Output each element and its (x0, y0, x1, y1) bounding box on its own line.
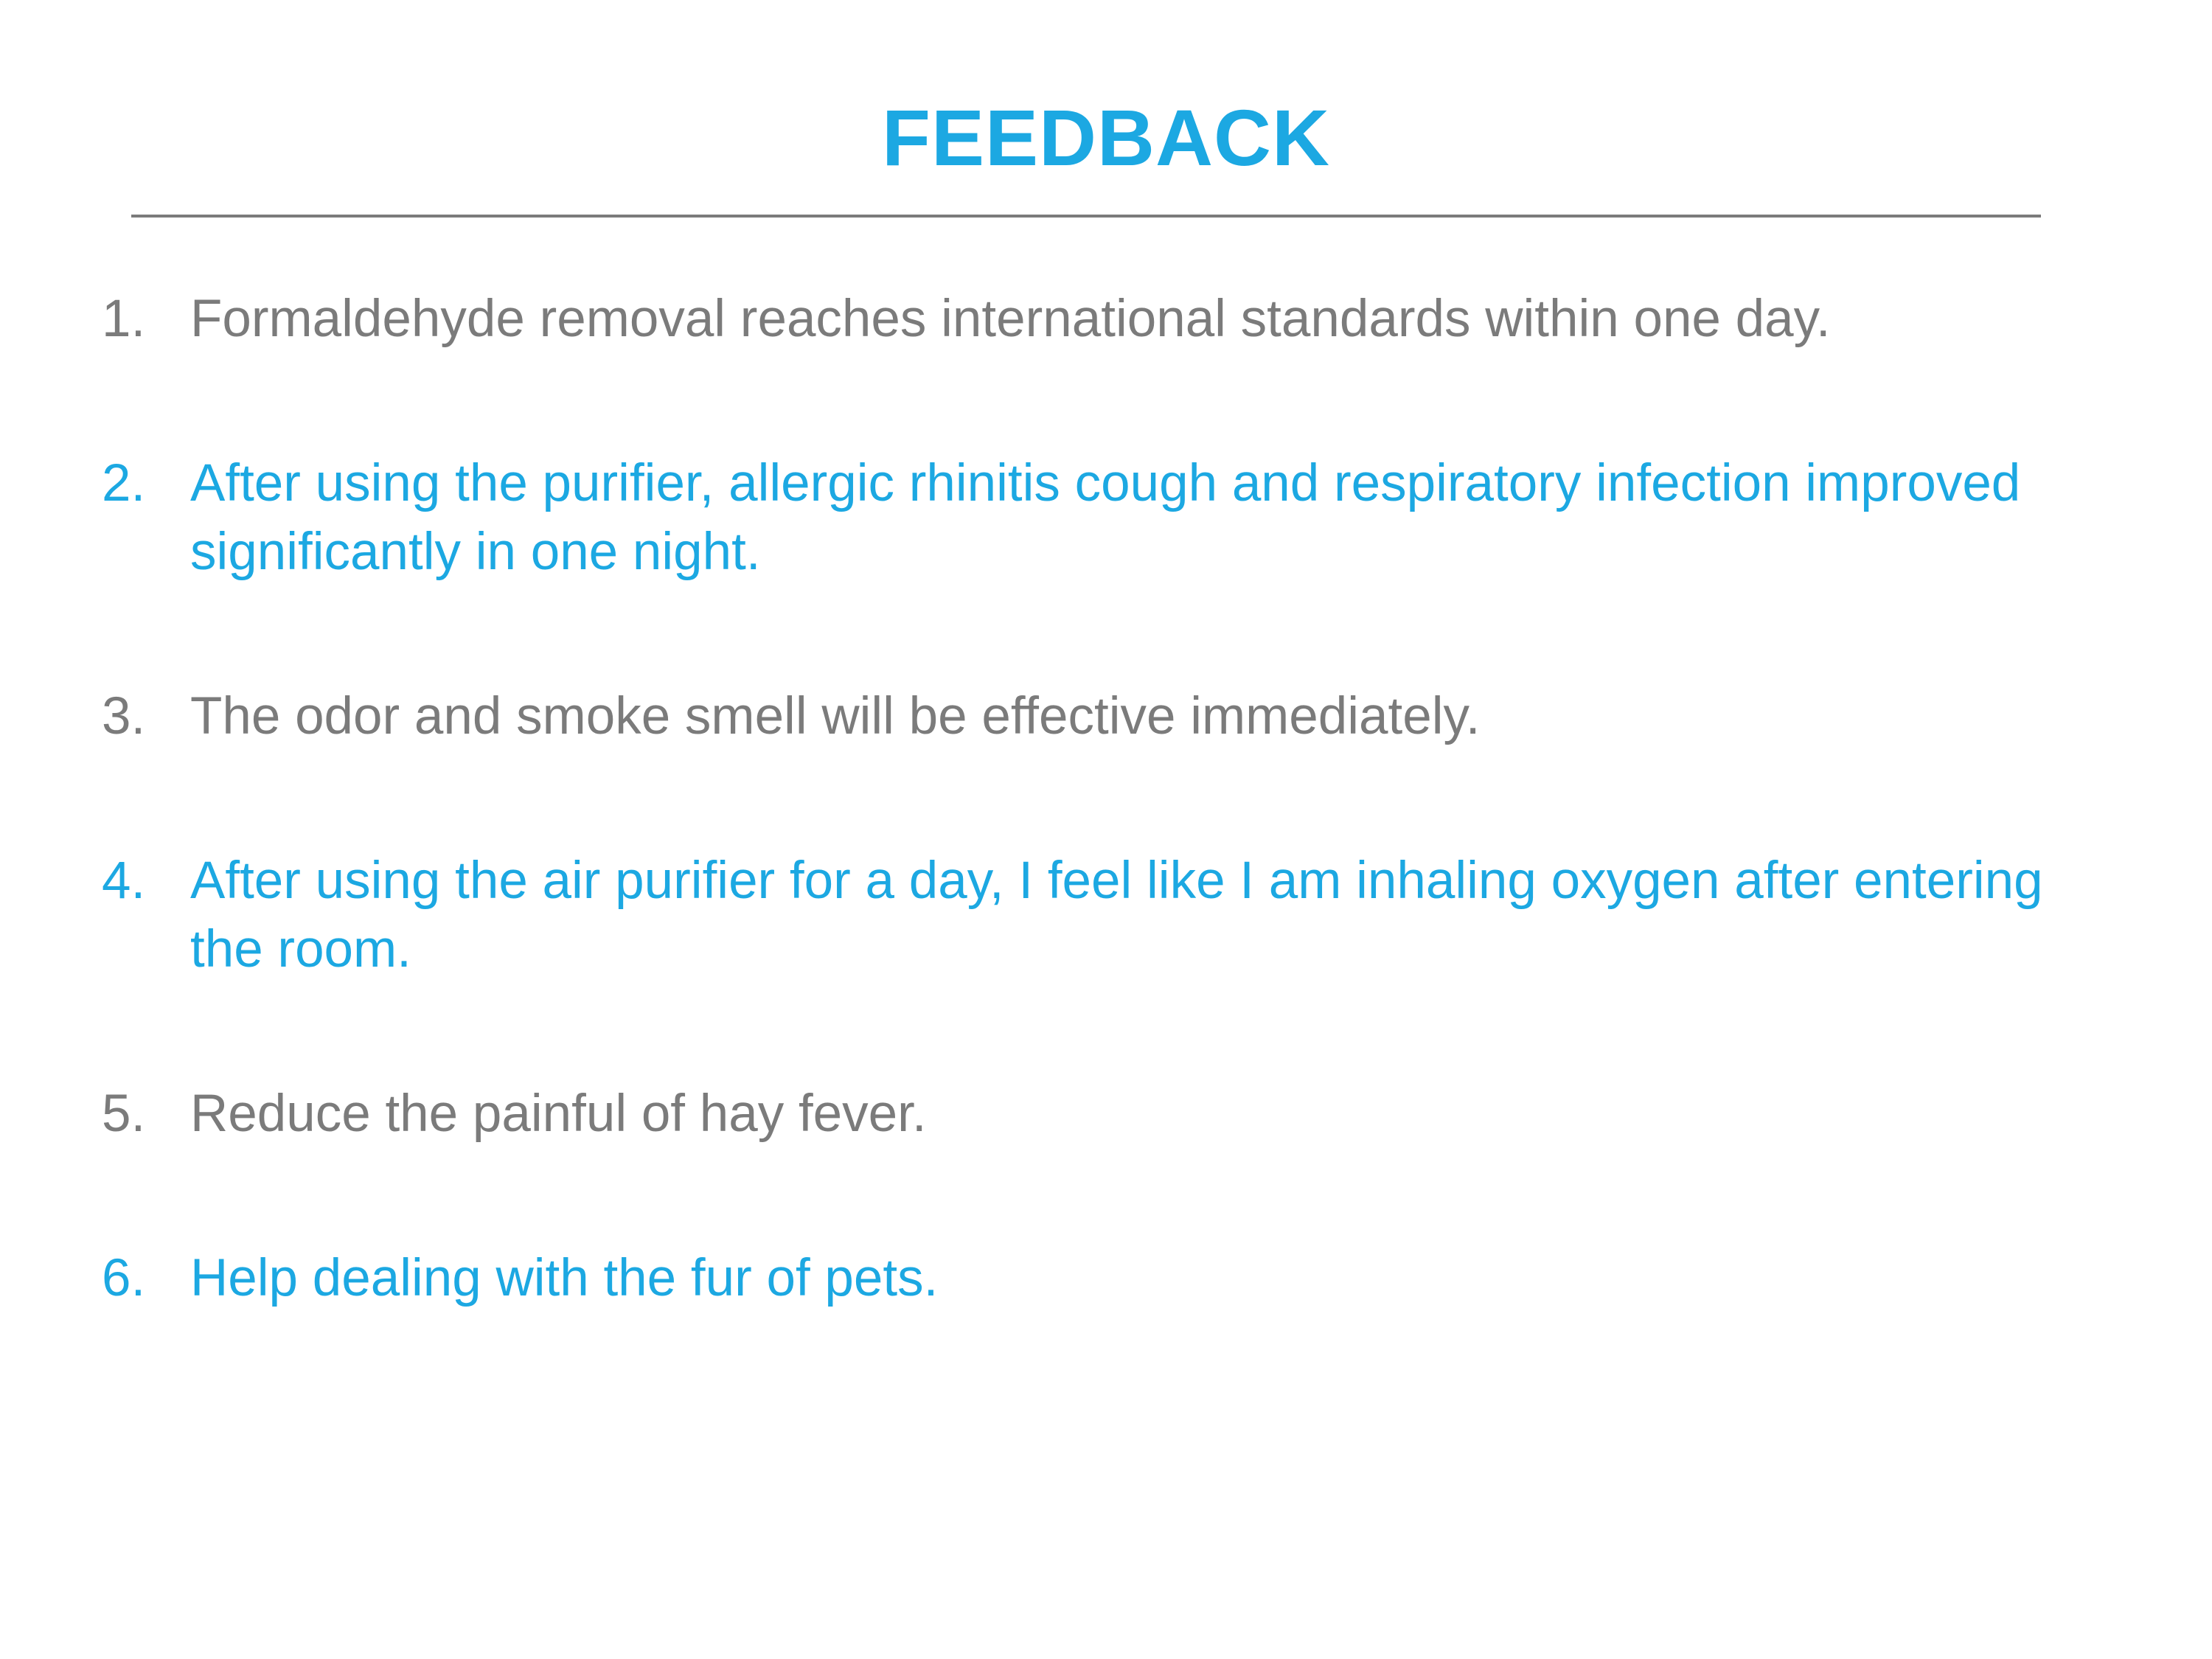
list-item: 5. Reduce the painful of hay fever. (102, 1079, 2093, 1148)
list-item: 4. After using the air purifier for a da… (102, 846, 2093, 984)
list-item-text: After using the purifier, allergic rhini… (190, 449, 2093, 586)
list-item: 1. Formaldehyde removal reaches internat… (102, 285, 2093, 353)
title-block: FEEDBACK (0, 96, 2212, 179)
list-item-number: 6. (102, 1244, 190, 1312)
page-title: FEEDBACK (882, 96, 1330, 179)
slide-canvas: FEEDBACK 1. Formaldehyde removal reaches… (0, 0, 2212, 1659)
list-item-text: The odor and smoke smell will be effecti… (190, 682, 2093, 751)
list-item-number: 3. (102, 682, 190, 751)
list-item-text: After using the air purifier for a day, … (190, 846, 2093, 984)
list-item-text: Reduce the painful of hay fever. (190, 1079, 2093, 1148)
list-item-text: Formaldehyde removal reaches internation… (190, 285, 2093, 353)
list-item: 2. After using the purifier, allergic rh… (102, 449, 2093, 586)
list-item: 3. The odor and smoke smell will be effe… (102, 682, 2093, 751)
list-item-number: 4. (102, 846, 190, 915)
list-item-number: 5. (102, 1079, 190, 1148)
list-item-text: Help dealing with the fur of pets. (190, 1244, 2093, 1312)
list-item-number: 1. (102, 285, 190, 353)
list-item: 6. Help dealing with the fur of pets. (102, 1244, 2093, 1312)
list-item-number: 2. (102, 449, 190, 518)
feedback-list: 1. Formaldehyde removal reaches internat… (102, 285, 2093, 1312)
title-divider (131, 215, 2041, 218)
